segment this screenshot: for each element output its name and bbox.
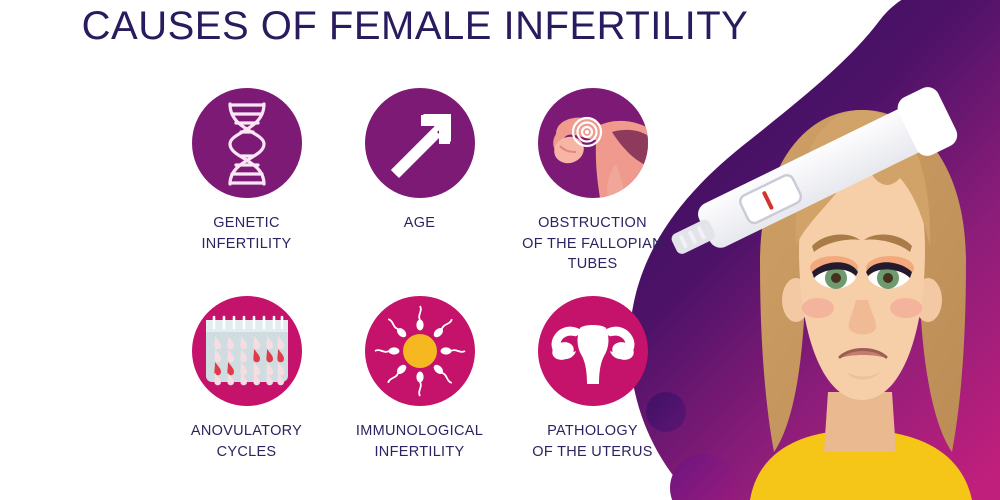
cause-label: PATHOLOGY OF THE UTERUS <box>532 421 652 462</box>
cause-item-immunological-infertility[interactable]: IMMUNOLOGICAL INFERTILITY <box>333 296 506 462</box>
blush-right <box>890 298 922 318</box>
menstrual-calendar-icon <box>192 296 302 406</box>
causes-row-2: ANOVULATORY CYCLES <box>160 296 680 462</box>
cause-item-obstruction-of-the-fallopian-tubes[interactable]: OBSTRUCTION OF THE FALLOPIAN TUBES <box>506 88 679 275</box>
causes-row-1: GENETIC INFERTILITY AGE <box>160 88 680 296</box>
cause-item-age[interactable]: AGE <box>333 88 506 234</box>
cause-item-genetic-infertility[interactable]: GENETIC INFERTILITY <box>160 88 333 254</box>
sperm-egg-icon <box>365 296 475 406</box>
egg-cell <box>403 334 437 368</box>
cause-label: AGE <box>404 213 436 234</box>
cause-label: ANOVULATORY CYCLES <box>191 421 302 462</box>
uterus-icon <box>538 296 648 406</box>
blush-left <box>802 298 834 318</box>
page-title: CAUSES OF FEMALE INFERTILITY <box>0 4 830 49</box>
infographic-canvas: CAUSES OF FEMALE INFERTILITY <box>0 0 1000 500</box>
cause-label: OBSTRUCTION OF THE FALLOPIAN TUBES <box>522 213 663 275</box>
cause-label: GENETIC INFERTILITY <box>201 213 291 254</box>
cause-item-pathology-of-the-uterus[interactable]: PATHOLOGY OF THE UTERUS <box>506 296 679 462</box>
fallopian-tube-obstruction-icon <box>538 88 648 198</box>
causes-grid: GENETIC INFERTILITY AGE <box>160 88 680 462</box>
dna-icon <box>192 88 302 198</box>
up-arrow-icon <box>365 88 475 198</box>
neck <box>824 392 896 452</box>
cause-item-anovulatory-cycles[interactable]: ANOVULATORY CYCLES <box>160 296 333 462</box>
cause-label: IMMUNOLOGICAL INFERTILITY <box>356 421 483 462</box>
